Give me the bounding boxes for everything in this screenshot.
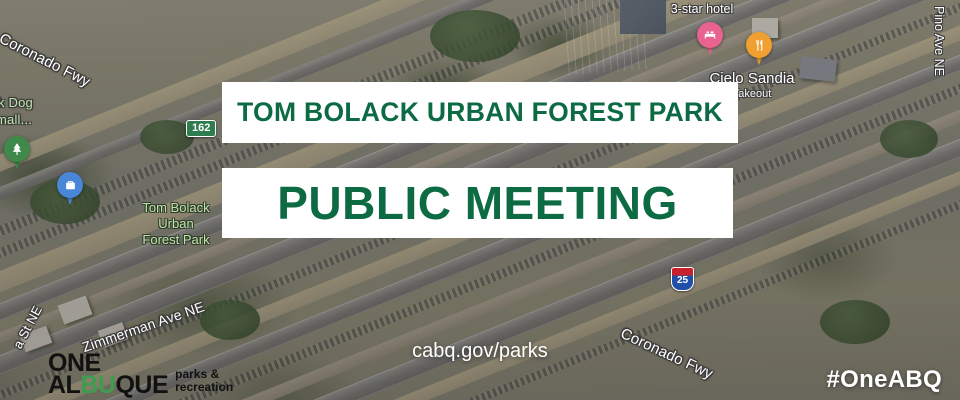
poi-label-hotel: 3-star hotel: [622, 2, 782, 16]
logo-line-albuquerque: ALBUQUE: [48, 374, 168, 396]
hashtag-oneabq: #OneABQ: [827, 366, 942, 394]
store-pin[interactable]: [57, 172, 83, 206]
logo-alb-part-c: QUE: [115, 371, 168, 399]
route-shield-162[interactable]: 162: [186, 120, 216, 137]
logo-alb-part-a: AL: [48, 371, 80, 399]
map-label-street-right: Pino Ave NE: [932, 6, 946, 76]
logo-department: parks & recreation: [175, 368, 233, 396]
map-label-park-line1: Tom Bolack: [126, 200, 226, 216]
title-banner: TOM BOLACK URBAN FOREST PARK: [222, 82, 738, 143]
hotel-pin[interactable]: [697, 22, 723, 56]
bed-icon: [697, 22, 723, 48]
meeting-banner: PUBLIC MEETING: [222, 168, 733, 238]
logo-wordmark: ONE ALBUQUE: [48, 352, 168, 396]
map-label-dog-park-sub: mall...: [0, 112, 32, 127]
briefcase-icon: [57, 172, 83, 198]
restaurant-pin[interactable]: [746, 32, 772, 66]
tree-icon: [4, 136, 30, 162]
map-label-park-line2: Urban: [126, 216, 226, 232]
fork-knife-icon: [746, 32, 772, 58]
interstate-shield-25[interactable]: 25: [671, 267, 694, 291]
poster-title: TOM BOLACK URBAN FOREST PARK: [237, 97, 723, 128]
poster-headline: PUBLIC MEETING: [277, 176, 678, 230]
poster-canvas: Coronado Fwy Coronado Fwy k Dog mall... …: [0, 0, 960, 400]
logo-dept-line-2: recreation: [175, 381, 233, 394]
park-pin[interactable]: [4, 136, 30, 170]
logo-alb-part-bu: BU: [80, 371, 115, 399]
one-albuquerque-logo: ONE ALBUQUE parks & recreation: [48, 352, 233, 396]
map-label-dog-park: k Dog: [0, 95, 33, 110]
map-label-park-line3: Forest Park: [120, 232, 232, 248]
